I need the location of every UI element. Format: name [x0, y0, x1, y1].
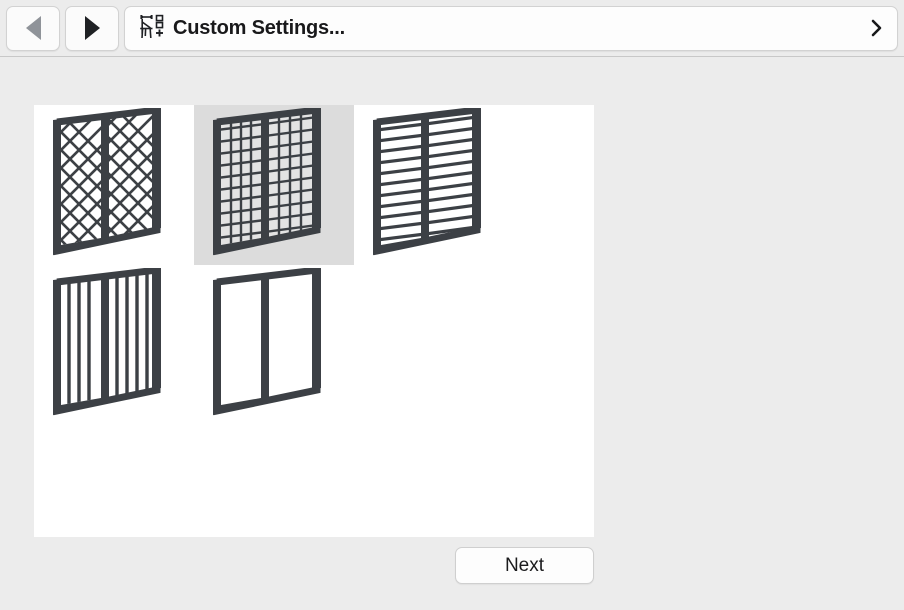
horizontal-louvre-grille-image: [369, 108, 499, 263]
next-button[interactable]: Next: [455, 547, 594, 584]
thumbnail-horizontal-louvre[interactable]: [354, 105, 514, 265]
triangle-right-icon: [85, 16, 100, 40]
thumbnail-diagonal-lattice[interactable]: [34, 105, 194, 265]
thumbnail-grid: [34, 105, 594, 537]
thumbnail-vertical-bars[interactable]: [34, 265, 194, 425]
square-grid-grille-image: [209, 108, 339, 263]
back-button[interactable]: [6, 6, 60, 51]
thumbnail-panel: [34, 105, 594, 537]
plain-frame-grille-image: [209, 268, 339, 423]
page-title: Custom Settings...: [173, 17, 345, 40]
forward-button[interactable]: [65, 6, 119, 51]
diagonal-lattice-grille-image: [49, 108, 179, 263]
toolbar: Custom Settings...: [0, 0, 904, 57]
title-bar-button[interactable]: Custom Settings...: [124, 6, 898, 51]
thumbnail-plain-frame[interactable]: [194, 265, 354, 425]
triangle-left-icon: [26, 16, 41, 40]
custom-settings-icon: [139, 14, 165, 42]
chevron-right-icon[interactable]: [869, 17, 885, 39]
thumbnail-square-grid[interactable]: [194, 105, 354, 265]
vertical-bars-grille-image: [49, 268, 179, 423]
